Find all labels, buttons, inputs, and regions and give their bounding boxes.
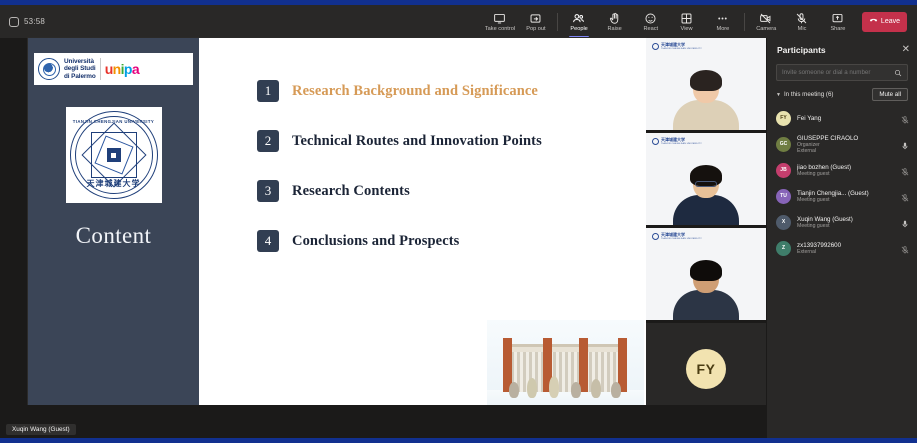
participants-panel: Participants ✕ ▼ In this meeting (6) Mut…	[766, 38, 917, 443]
toolbar-divider-2	[744, 13, 745, 31]
recording-timer-icon	[9, 17, 19, 27]
video-tile-3[interactable]: 天津城建大学 TIANJIN CHENGJIAN UNIVERSITY	[646, 228, 766, 320]
agenda-number-1: 1	[257, 80, 279, 102]
search-icon	[894, 64, 902, 82]
toolbar-mic-button[interactable]: Mic	[784, 5, 820, 38]
video-tile-2[interactable]: 天津城建大学 TIANJIN CHENGJIAN UNIVERSITY	[646, 133, 766, 225]
participant-role: Meeting guest	[797, 171, 900, 177]
unipa-divider	[100, 58, 101, 80]
toolbar-take-control-button[interactable]: Take control	[482, 5, 518, 38]
participant-row-zx13937992600[interactable]: Z zx13937992600 External	[767, 235, 917, 261]
camera-off-icon	[759, 12, 772, 25]
participant-row-fei-yang[interactable]: FY Fei Yang	[767, 105, 917, 131]
close-icon[interactable]: ✕	[902, 45, 910, 55]
participant-info: Tianjin Chengjia... (Guest) Meeting gues…	[797, 190, 900, 203]
campus-building-photo	[487, 320, 644, 418]
participant-info: zx13937992600 External	[797, 242, 900, 255]
people-icon	[572, 12, 585, 25]
unipa-wordmark: u n i p a	[105, 61, 139, 77]
unipa-letter-a: a	[132, 61, 139, 77]
meeting-timer-text: 53:58	[24, 17, 45, 26]
participant-role: Meeting guest	[797, 223, 900, 229]
participant-name: jiao bozhen (Guest)	[797, 164, 900, 171]
participant-row-xuqin-wang[interactable]: X Xuqin Wang (Guest) Meeting guest	[767, 209, 917, 235]
toolbar-mic-label: Mic	[798, 25, 807, 31]
toolbar-take-control-label: Take control	[485, 25, 515, 31]
agenda-item-1: 1 Research Background and Significance	[257, 80, 646, 102]
tju-watermark-en-3: TIANJIN CHENGJIAN UNIVERSITY	[661, 238, 702, 240]
toolbar-people-button[interactable]: People	[561, 5, 597, 38]
participant-name: Xuqin Wang (Guest)	[797, 216, 900, 223]
toolbar-camera-label: Camera	[756, 25, 776, 31]
participants-panel-header: Participants ✕	[767, 38, 917, 62]
mic-off-icon	[795, 12, 808, 25]
participants-list: FY Fei Yang GC GIUSEPPE CIRAOLO Organize…	[767, 105, 917, 261]
more-ellipsis-icon	[716, 12, 729, 25]
toolbar-raise-label: Raise	[608, 25, 622, 31]
tju-watermark-en-1: TIANJIN CHENGJIAN UNIVERSITY	[661, 48, 702, 50]
toolbar-pop-out-button[interactable]: Pop out	[518, 5, 554, 38]
chevron-down-icon: ▼	[776, 92, 781, 98]
participant-row-tianjin-chengjian[interactable]: TU Tianjin Chengjia... (Guest) Meeting g…	[767, 183, 917, 209]
unipa-letter-p: p	[124, 61, 132, 77]
participant-row-jiao-bozhen[interactable]: JB jiao bozhen (Guest) Meeting guest	[767, 157, 917, 183]
participant-info: jiao bozhen (Guest) Meeting guest	[797, 164, 900, 177]
mic-off-icon[interactable]	[900, 112, 910, 124]
toolbar-react-label: React	[644, 25, 659, 31]
toolbar-view-label: View	[681, 25, 693, 31]
grid-view-icon	[680, 12, 693, 25]
react-emoji-icon	[644, 12, 657, 25]
leave-button[interactable]: Leave	[862, 12, 907, 32]
hang-up-icon	[869, 16, 878, 27]
tju-seal-cn-text: 天津城建大学	[71, 178, 157, 189]
participant-video-1	[673, 73, 739, 130]
participant-org: External	[797, 249, 900, 255]
unipa-line-1: Università	[64, 58, 96, 65]
agenda-number-2: 2	[257, 130, 279, 152]
video-tile-1[interactable]: 天津城建大学 TIANJIN CHENGJIAN UNIVERSITY	[646, 38, 766, 130]
agenda-item-3: 3 Research Contents	[257, 180, 646, 202]
agenda-text-1: Research Background and Significance	[292, 83, 538, 100]
tju-seal-container: TIANJIN CHENGJIAN UNIVERSITY 天津城建大学	[66, 107, 162, 203]
participants-panel-title: Participants	[777, 45, 902, 55]
agenda-text-3: Research Contents	[292, 183, 410, 200]
toolbar-more-button[interactable]: More	[705, 5, 741, 38]
unipa-logo-bar: Università degli Studi di Palermo u n i …	[34, 53, 193, 85]
participant-name: GIUSEPPE CIRAOLO	[797, 135, 900, 142]
agenda-item-4: 4 Conclusions and Prospects	[257, 230, 646, 252]
avatar: GC	[776, 137, 791, 152]
share-screen-icon	[831, 12, 844, 25]
avatar: Z	[776, 241, 791, 256]
participant-info: Xuqin Wang (Guest) Meeting guest	[797, 216, 900, 229]
participant-info: GIUSEPPE CIRAOLO Organizer External	[797, 135, 900, 154]
tju-watermark-icon-1: 天津城建大学 TIANJIN CHENGJIAN UNIVERSITY	[652, 43, 702, 50]
toolbar-raise-hand-button[interactable]: Raise	[597, 5, 633, 38]
participant-info: Fei Yang	[797, 115, 900, 122]
agenda-item-2: 2 Technical Routes and Innovation Points	[257, 130, 646, 152]
participant-video-2	[673, 168, 739, 225]
participant-video-3	[673, 263, 739, 320]
slide-title: Content	[76, 223, 152, 249]
search-input[interactable]	[782, 69, 894, 76]
leave-button-label: Leave	[881, 18, 900, 25]
agenda-number-3: 3	[257, 180, 279, 202]
avatar: TU	[776, 189, 791, 204]
agenda-text-2: Technical Routes and Innovation Points	[292, 133, 542, 150]
participant-org: External	[797, 148, 900, 154]
unipa-line-3: di Palermo	[64, 73, 96, 80]
avatar: JB	[776, 163, 791, 178]
mic-off-icon[interactable]	[900, 190, 910, 202]
mic-off-icon[interactable]	[900, 242, 910, 254]
teams-meeting-window: 53:58 Take control Pop out	[0, 0, 917, 443]
meeting-timer: 53:58	[9, 17, 45, 27]
monitor-icon	[493, 12, 506, 25]
toolbar-people-label: People	[570, 25, 587, 31]
active-speaker-nameplate: Xuqin Wang (Guest)	[6, 424, 76, 435]
toolbar-more-label: More	[717, 25, 730, 31]
mic-on-icon[interactable]	[900, 138, 910, 150]
in-this-meeting-label: In this meeting (6)	[784, 91, 872, 98]
avatar: FY	[776, 111, 791, 126]
meeting-toolbar: 53:58 Take control Pop out	[0, 5, 917, 38]
pop-out-icon	[529, 12, 542, 25]
participant-name: Fei Yang	[797, 115, 900, 122]
avatar: FY	[686, 349, 726, 389]
agenda-text-4: Conclusions and Prospects	[292, 233, 459, 250]
unipa-seal-icon	[38, 58, 60, 80]
participant-row-giuseppe-ciraolo[interactable]: GC GIUSEPPE CIRAOLO Organizer External	[767, 131, 917, 157]
tju-seal-core	[107, 148, 121, 162]
tju-university-seal-icon: TIANJIN CHENGJIAN UNIVERSITY 天津城建大学	[70, 111, 158, 199]
toolbar-share-label: Share	[830, 25, 845, 31]
in-this-meeting-section[interactable]: ▼ In this meeting (6) Mute all	[776, 88, 908, 101]
slide-body: 1 Research Background and Significance 2…	[199, 38, 646, 420]
toolbar-react-button[interactable]: React	[633, 5, 669, 38]
window-bottom-accent	[0, 438, 917, 443]
toolbar-divider-1	[557, 13, 558, 31]
avatar: X	[776, 215, 791, 230]
raise-hand-icon	[608, 12, 621, 25]
unipa-letter-n: n	[113, 61, 121, 77]
mic-on-icon[interactable]	[900, 216, 910, 228]
slide-sidebar: Università degli Studi di Palermo u n i …	[28, 38, 199, 420]
toolbar-main-group: Take control Pop out People	[482, 5, 917, 38]
shared-slide[interactable]: Università degli Studi di Palermo u n i …	[28, 38, 646, 420]
toolbar-pop-out-label: Pop out	[526, 25, 545, 31]
mic-off-icon[interactable]	[900, 164, 910, 176]
unipa-letter-u: u	[105, 61, 113, 77]
toolbar-view-button[interactable]: View	[669, 5, 705, 38]
toolbar-share-button[interactable]: Share	[820, 5, 856, 38]
toolbar-camera-button[interactable]: Camera	[748, 5, 784, 38]
participant-name: Tianjin Chengjia... (Guest)	[797, 190, 900, 197]
video-filmstrip: 天津城建大学 TIANJIN CHENGJIAN UNIVERSITY 天津城建…	[646, 38, 766, 424]
agenda-number-4: 4	[257, 230, 279, 252]
invite-search-box[interactable]	[776, 64, 908, 81]
meeting-stage: Università degli Studi di Palermo u n i …	[0, 38, 766, 424]
video-tile-avatar[interactable]: FY	[646, 323, 766, 415]
stage-bottom-bar	[0, 405, 766, 424]
tju-watermark-icon-2: 天津城建大学 TIANJIN CHENGJIAN UNIVERSITY	[652, 138, 702, 145]
participant-name: zx13937992600	[797, 242, 900, 249]
mute-all-button[interactable]: Mute all	[872, 88, 908, 101]
unipa-university-name: Università degli Studi di Palermo	[64, 58, 96, 80]
tju-watermark-en-2: TIANJIN CHENGJIAN UNIVERSITY	[661, 143, 702, 145]
unipa-line-2: degli Studi	[64, 65, 96, 72]
tju-watermark-icon-3: 天津城建大学 TIANJIN CHENGJIAN UNIVERSITY	[652, 233, 702, 240]
participant-role: Meeting guest	[797, 197, 900, 203]
